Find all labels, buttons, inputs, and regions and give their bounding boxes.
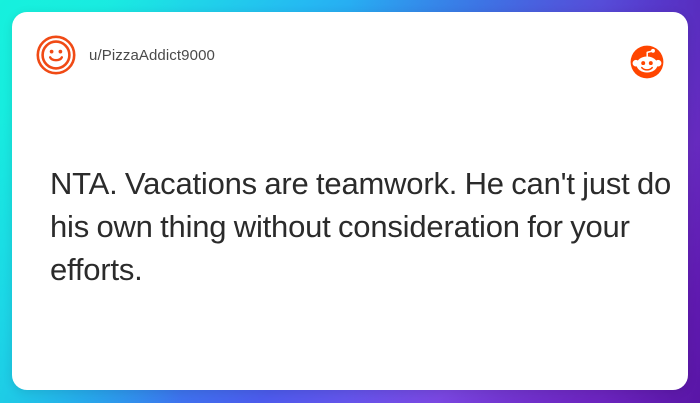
reddit-snoo-icon[interactable]	[630, 45, 664, 79]
author-block[interactable]: u/PizzaAddict9000	[36, 35, 215, 75]
avatar[interactable]	[36, 35, 76, 75]
author-username: u/PizzaAddict9000	[89, 48, 215, 63]
card-body: NTA. Vacations are teamwork. He can't ju…	[50, 162, 674, 291]
smiley-face-icon	[36, 35, 76, 75]
reddit-comment-card: u/PizzaAddict9000 NTA. Vacations ar	[12, 12, 688, 390]
post-text: NTA. Vacations are teamwork. He can't ju…	[50, 162, 674, 291]
gradient-background: u/PizzaAddict9000 NTA. Vacations ar	[0, 0, 700, 403]
card-header: u/PizzaAddict9000	[12, 12, 688, 98]
